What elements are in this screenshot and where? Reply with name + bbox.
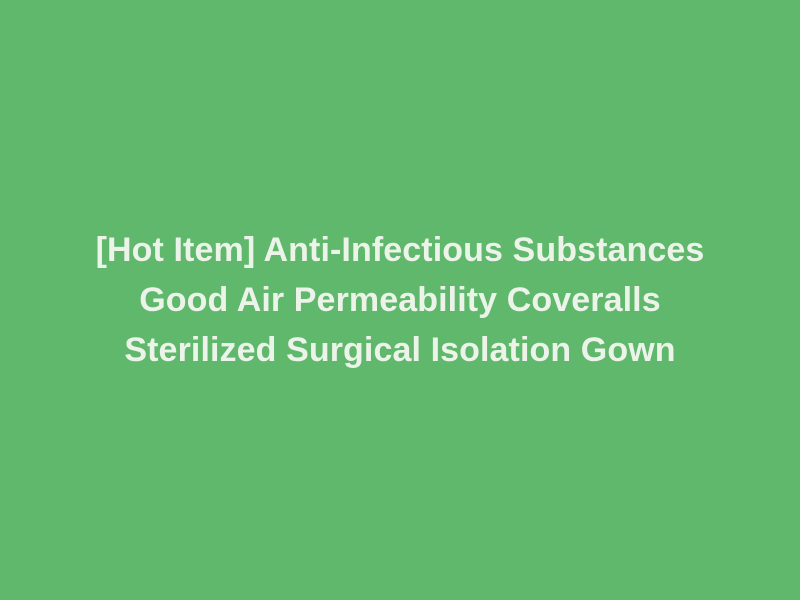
product-title-line-2: Good Air Permeability Coveralls (30, 275, 770, 325)
product-title-block: [Hot Item] Anti-Infectious Substances Go… (20, 225, 780, 375)
product-title-line-3: Sterilized Surgical Isolation Gown (30, 325, 770, 375)
image-placeholder-card: [Hot Item] Anti-Infectious Substances Go… (0, 0, 800, 600)
product-title-line-1: [Hot Item] Anti-Infectious Substances (30, 225, 770, 275)
